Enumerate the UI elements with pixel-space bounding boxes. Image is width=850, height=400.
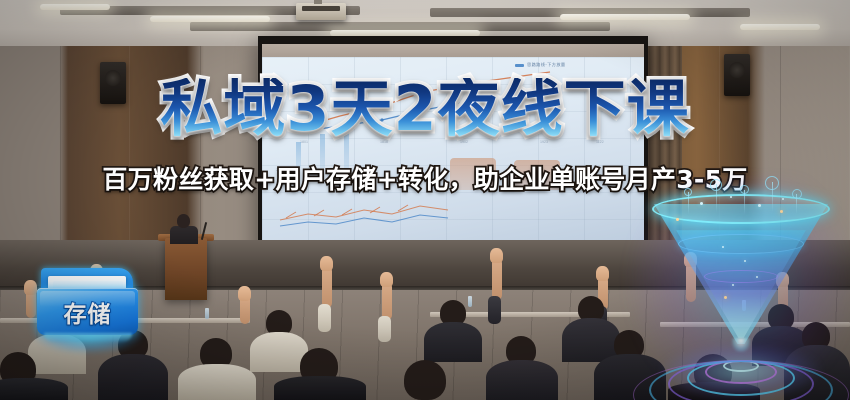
funnel-rim-mid <box>678 234 804 254</box>
funnel-rim-inner <box>704 270 778 283</box>
course-promo-banner: 思路路线-下方放量 70 0 20 1801 1818 1902 1923 11… <box>0 0 850 400</box>
wall-speaker-icon <box>100 62 126 104</box>
folder-badge-label: 存储 <box>37 288 138 335</box>
ceiling-projector-icon <box>296 3 346 20</box>
podium <box>165 238 207 300</box>
projection-screen: 思路路线-下方放量 70 0 20 1801 1818 1902 1923 11… <box>262 44 644 258</box>
presenter-body <box>170 226 198 244</box>
wall-speaker-icon <box>724 54 750 96</box>
folder-base-glow <box>44 333 132 342</box>
presenter-head <box>177 214 190 228</box>
holographic-funnel-graphic <box>632 188 850 400</box>
storage-folder-badge: 存储 <box>28 262 148 357</box>
